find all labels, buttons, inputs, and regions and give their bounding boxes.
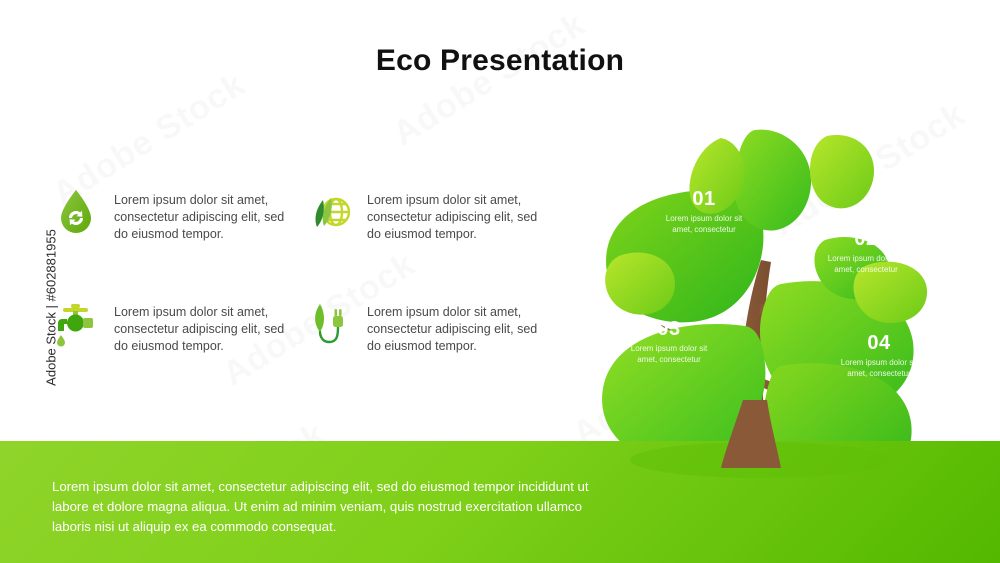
feature-text: Lorem ipsum dolor sit amet, consectetur … [114,298,294,355]
tree-base-overlay [575,100,995,500]
feature-item-2: Lorem ipsum dolor sit amet, consectetur … [305,186,547,243]
slide-canvas: Adobe Stock Adobe Stock Adobe Stock Adob… [0,0,1000,563]
page-title: Eco Presentation [0,44,1000,78]
feature-text: Lorem ipsum dolor sit amet, consectetur … [367,298,547,355]
leaf-globe-icon [305,186,353,238]
banner-paragraph: Lorem ipsum dolor sit amet, consectetur … [52,477,612,537]
leaf-power-plug-icon [305,298,353,350]
feature-text: Lorem ipsum dolor sit amet, consectetur … [367,186,547,243]
feature-item-1: Lorem ipsum dolor sit amet, consectetur … [52,186,294,243]
water-drop-recycle-icon [52,186,100,238]
faucet-water-drop-icon [52,298,100,350]
feature-item-3: Lorem ipsum dolor sit amet, consectetur … [52,298,294,355]
feature-item-4: Lorem ipsum dolor sit amet, consectetur … [305,298,547,355]
watermark-tile: Adobe Stock [386,5,592,154]
feature-text: Lorem ipsum dolor sit amet, consectetur … [114,186,294,243]
stock-credit-watermark: Adobe Stock | #602881955 [44,193,59,423]
